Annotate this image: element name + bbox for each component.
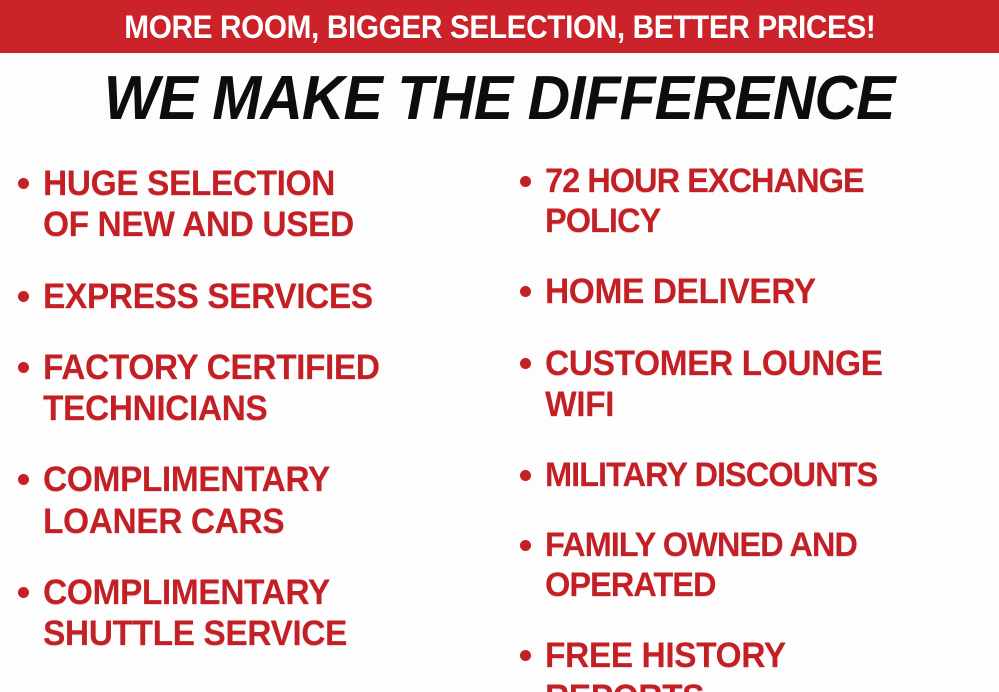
benefits-column-left: HUGE SELECTION OF NEW AND USED EXPRESS S… [0,155,506,685]
benefits-column-right: 72 HOUR EXCHANGE POLICY HOME DELIVERY CU… [506,155,999,692]
bullet-dot-icon [520,286,531,297]
bullet-dot-icon [18,474,29,485]
bullet-dot-icon [520,650,531,661]
dealership-promo-banner: MORE ROOM, BIGGER SELECTION, BETTER PRIC… [0,0,999,692]
promo-bar: MORE ROOM, BIGGER SELECTION, BETTER PRIC… [0,0,999,53]
list-item: MILITARY DISCOUNTS [520,455,999,495]
list-item: COMPLIMENTARY LOANER CARS [18,459,506,542]
list-item: COMPLIMENTARY SHUTTLE SERVICE [18,572,506,655]
headline-text: WE MAKE THE DIFFERENCE [104,66,895,131]
list-item: EXPRESS SERVICES [18,276,506,317]
bullet-dot-icon [18,291,29,302]
promo-bar-text: MORE ROOM, BIGGER SELECTION, BETTER PRIC… [124,11,875,43]
list-item: FACTORY CERTIFIED TECHNICIANS [18,347,506,430]
list-item: HUGE SELECTION OF NEW AND USED [18,163,506,246]
list-item: CUSTOMER LOUNGE WIFI [520,343,999,426]
bullet-dot-icon [520,470,531,481]
list-item: FAMILY OWNED AND OPERATED [520,525,999,605]
list-item-label: HOME DELIVERY [545,271,816,312]
list-item-label: EXPRESS SERVICES [43,276,373,317]
list-item-label: FREE HISTORY REPORTS [545,635,786,692]
bullet-dot-icon [18,362,29,373]
list-item-label: MILITARY DISCOUNTS [545,455,877,495]
list-item-label: FAMILY OWNED AND OPERATED [545,525,857,605]
list-item-label: FACTORY CERTIFIED TECHNICIANS [43,347,380,430]
bullet-dot-icon [520,358,531,369]
headline: WE MAKE THE DIFFERENCE [0,66,999,131]
bullet-dot-icon [520,176,531,187]
bullet-dot-icon [18,587,29,598]
bullet-dot-icon [520,540,531,551]
list-item-label: HUGE SELECTION OF NEW AND USED [43,163,354,246]
list-item: 72 HOUR EXCHANGE POLICY [520,161,999,241]
list-item-label: CUSTOMER LOUNGE WIFI [545,343,883,426]
list-item-label: 72 HOUR EXCHANGE POLICY [545,161,864,241]
list-item-label: COMPLIMENTARY LOANER CARS [43,459,330,542]
benefits-columns: HUGE SELECTION OF NEW AND USED EXPRESS S… [0,155,999,692]
bullet-dot-icon [18,178,29,189]
list-item: FREE HISTORY REPORTS [520,635,999,692]
list-item: HOME DELIVERY [520,271,999,312]
list-item-label: COMPLIMENTARY SHUTTLE SERVICE [43,572,347,655]
